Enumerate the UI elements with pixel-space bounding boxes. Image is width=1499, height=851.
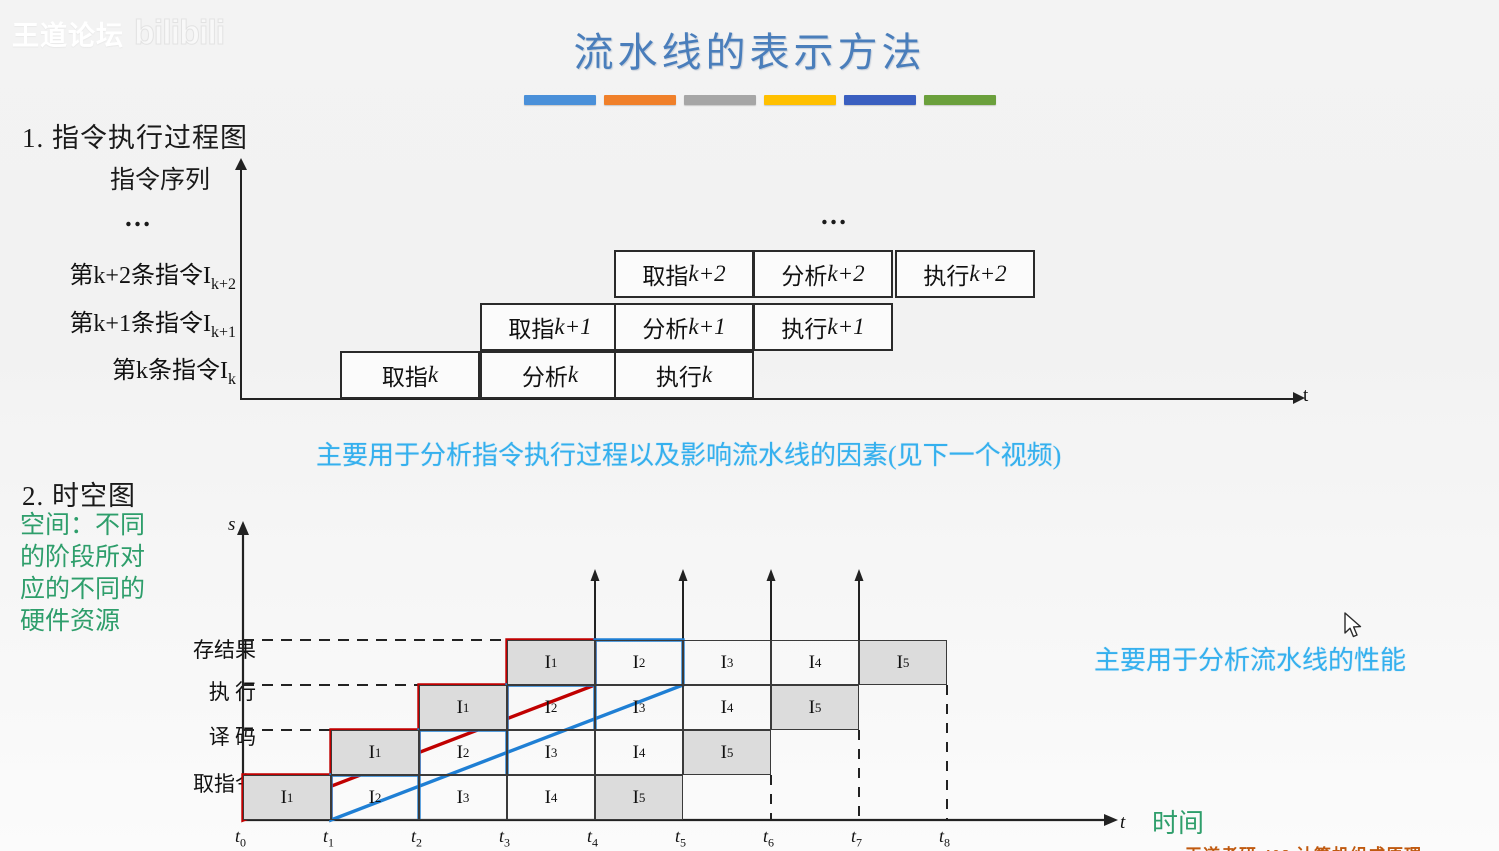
diagram2-y-axis-symbol: s (228, 514, 235, 536)
cell-instruction-index: 4 (639, 745, 646, 761)
bar-yellow (764, 95, 836, 105)
diagram1-cell-index: k+1 (554, 314, 591, 340)
space-note-line: 的阶段所对 (20, 542, 145, 574)
space-time-cell: I3 (419, 775, 507, 820)
cell-instruction-index: 1 (551, 655, 558, 671)
space-time-cell: I5 (771, 685, 859, 730)
bar-orange (604, 95, 676, 105)
space-time-cell: I2 (419, 730, 507, 775)
space-time-cell: I1 (507, 640, 595, 685)
time-tick: t7 (851, 826, 862, 851)
instruction-label-k-plus-2: 第k+2条指令Ik+2 (10, 255, 236, 294)
diagram2-time-label: 时间 (1152, 803, 1204, 840)
bar-blue (524, 95, 596, 105)
diagram1-cell-stage: 取指 (508, 310, 554, 344)
completion-arrow-icon (855, 569, 864, 581)
time-tick-sub: 0 (240, 836, 246, 850)
time-tick: t6 (763, 826, 774, 851)
cell-instruction-index: 5 (639, 790, 646, 806)
space-time-cell: I1 (419, 685, 507, 730)
bar-navy (844, 95, 916, 105)
space-time-cell: I5 (595, 775, 683, 820)
diagram1-cell-index: k+2 (969, 261, 1006, 287)
diagram1-cell-stage: 执行 (923, 257, 969, 291)
diagram1-cell: 执行k+2 (895, 250, 1035, 298)
time-tick: t8 (939, 826, 950, 851)
completion-arrow-icon (767, 569, 776, 581)
space-note-line: 空间：不同 (20, 510, 145, 542)
diagram1-cell: 分析k+2 (753, 250, 893, 298)
time-tick-sub: 7 (856, 836, 862, 850)
time-tick-sub: 6 (768, 836, 774, 850)
instruction-label-text: 第k条指令I (112, 358, 228, 384)
time-tick: t4 (587, 826, 598, 851)
diagram1-cell: 执行k (614, 351, 754, 399)
diagram1-cell-index: k (428, 362, 438, 388)
diagram2-x-axis-symbol: t (1120, 812, 1125, 834)
time-tick-sub: 3 (504, 836, 510, 850)
cell-instruction-index: 1 (463, 700, 470, 716)
cell-instruction-index: 4 (727, 700, 734, 716)
space-time-cell: I1 (243, 775, 331, 820)
diagram1-cell-index: k (568, 362, 578, 388)
time-tick: t1 (323, 826, 334, 851)
diagram1-cell-index: k+2 (827, 261, 864, 287)
time-tick: t5 (675, 826, 686, 851)
cell-instruction-index: 5 (903, 655, 910, 671)
cell-instruction-index: 3 (639, 700, 646, 716)
space-time-cell: I3 (507, 730, 595, 775)
diagram1-cell-stage: 取指 (382, 358, 428, 392)
cell-instruction-index: 1 (287, 790, 294, 806)
diagram2-caption: 主要用于分析流水线的性能 (1094, 640, 1406, 677)
space-time-cell: I2 (507, 685, 595, 730)
diagram1-cell: 执行k+1 (753, 303, 893, 351)
instruction-label-sub: k (228, 371, 236, 388)
instruction-label-text: 第k+1条指令I (69, 311, 211, 337)
time-tick-sub: 4 (592, 836, 598, 850)
cell-instruction-index: 2 (375, 790, 382, 806)
space-note-line: 硬件资源 (20, 606, 145, 638)
cell-instruction-index: 5 (727, 745, 734, 761)
space-time-cell: I4 (595, 730, 683, 775)
diagram1-cell-stage: 分析 (522, 358, 568, 392)
space-time-cell: I4 (771, 640, 859, 685)
time-tick-sub: 8 (944, 836, 950, 850)
cell-instruction-index: 1 (375, 745, 382, 761)
space-time-cell: I5 (683, 730, 771, 775)
cell-instruction-index: 4 (815, 655, 822, 671)
cell-instruction-index: 5 (815, 700, 822, 716)
space-time-cell: I3 (595, 685, 683, 730)
cell-instruction-index: 3 (551, 745, 558, 761)
time-tick-sub: 1 (328, 836, 334, 850)
diagram1-cell-index: k+1 (688, 314, 725, 340)
stage-label-store-result: 存结果 (150, 634, 256, 664)
cell-instruction-index: 2 (639, 655, 646, 671)
space-time-cell: I5 (859, 640, 947, 685)
diagram1-cell-stage: 执行 (656, 358, 702, 392)
diagram1-cell: 分析k+1 (614, 303, 754, 351)
cell-instruction-index: 2 (463, 745, 470, 761)
mouse-cursor-icon (1344, 612, 1366, 642)
space-time-cell: I1 (331, 730, 419, 775)
diagram2-horizontal-axis-arrow-icon (1104, 814, 1118, 826)
slide-canvas: 王道论坛 bilibili 流水线的表示方法 1. 指令执行过程图 指令序列 …… (0, 0, 1499, 851)
diagram1-vertical-axis (240, 166, 242, 400)
diagram1-ellipsis-left: … (124, 202, 154, 233)
cell-instruction-index: 3 (727, 655, 734, 671)
title-accent-bars (524, 95, 996, 105)
bottom-branding-strip: 王道考研 408 计算机组成原理 (1185, 841, 1422, 851)
diagram1-cell-stage: 执行 (781, 310, 827, 344)
time-tick-sub: 5 (680, 836, 686, 850)
completion-arrow-icon (679, 569, 688, 581)
diagram1-y-axis-label: 指令序列 (110, 160, 210, 196)
instruction-label-sub: k+1 (211, 324, 236, 341)
stage-label-fetch: 取指令 (150, 768, 256, 798)
cell-instruction-index: 4 (551, 790, 558, 806)
diagram1-cell-index: k+2 (688, 261, 725, 287)
page-title: 流水线的表示方法 (0, 20, 1499, 78)
bar-gray (684, 95, 756, 105)
section-heading-one: 1. 指令执行过程图 (22, 116, 248, 155)
time-tick: t0 (235, 826, 246, 851)
diagram1-ellipsis-top: … (820, 200, 850, 231)
diagram2-vertical-axis-arrow-icon (237, 521, 249, 535)
completion-arrow-icon (591, 569, 600, 581)
diagram1-caption: 主要用于分析指令执行过程以及影响流水线的因素(见下一个视频) (316, 435, 1061, 472)
diagram1-cell-index: k (702, 362, 712, 388)
diagram1-cell-stage: 分析 (781, 257, 827, 291)
space-note-line: 应的不同的 (20, 574, 145, 606)
space-time-cell: I2 (595, 640, 683, 685)
time-tick: t2 (411, 826, 422, 851)
space-time-cell: I4 (683, 685, 771, 730)
cell-instruction-index: 2 (551, 700, 558, 716)
time-tick-sub: 2 (416, 836, 422, 850)
section-heading-two: 2. 时空图 (22, 474, 136, 513)
diagram1-cell: 分析k (480, 351, 620, 399)
diagram1-cell-index: k+1 (827, 314, 864, 340)
stage-label-execute: 执 行 (150, 676, 256, 706)
diagram1-cell: 取指k+1 (480, 303, 620, 351)
instruction-label-k-plus-1: 第k+1条指令Ik+1 (10, 303, 236, 342)
diagram1-cell: 取指k (340, 351, 480, 399)
diagram1-vertical-axis-arrow-icon (235, 158, 247, 170)
instruction-label-text: 第k+2条指令I (69, 263, 211, 289)
instruction-label-sub: k+2 (211, 276, 236, 293)
space-time-cell: I2 (331, 775, 419, 820)
cell-instruction-index: 3 (463, 790, 470, 806)
space-time-cell: I4 (507, 775, 595, 820)
stage-label-decode: 译 码 (150, 721, 256, 751)
diagram1-cell-stage: 分析 (642, 310, 688, 344)
instruction-label-k: 第k条指令Ik (10, 350, 236, 389)
space-definition-note: 空间：不同的阶段所对应的不同的硬件资源 (20, 510, 145, 638)
diagram1-cell: 取指k+2 (614, 250, 754, 298)
diagram1-x-axis-label: t (1303, 385, 1308, 407)
bar-green (924, 95, 996, 105)
diagram1-cell-stage: 取指 (642, 257, 688, 291)
space-time-cell: I3 (683, 640, 771, 685)
time-tick: t3 (499, 826, 510, 851)
